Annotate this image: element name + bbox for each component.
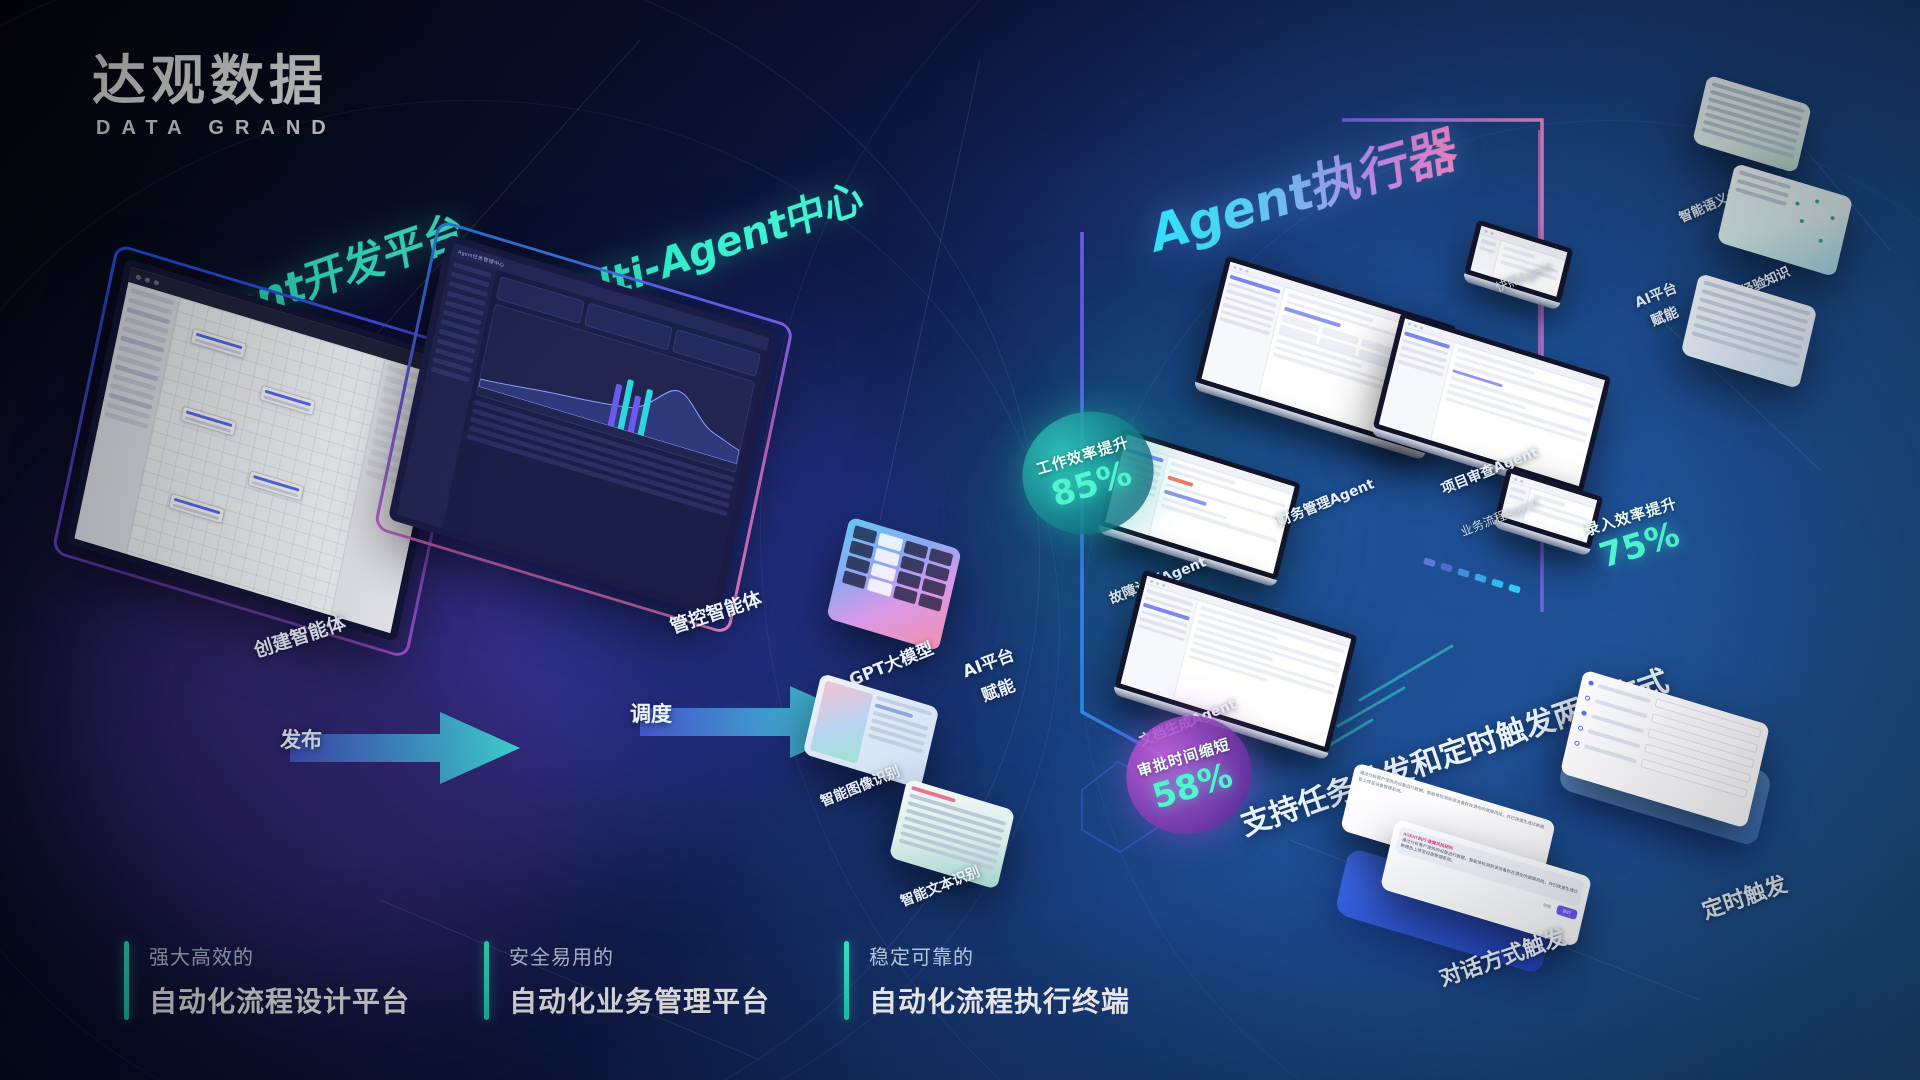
radio-icon[interactable] <box>1588 680 1594 686</box>
screen-multi-agent-center[interactable]: Agent任务管理中心 <box>388 234 778 618</box>
caption-subtitle: 安全易用的 <box>509 941 770 970</box>
card-gpt-model[interactable] <box>826 516 962 651</box>
radio-icon[interactable] <box>1581 710 1587 716</box>
arrow-label-dispatch: 调度 <box>630 698 672 728</box>
card-semantic-analysis[interactable] <box>1692 75 1812 174</box>
flow-node[interactable] <box>247 470 304 501</box>
caption-item-design-platform: 强大高效的 自动化流程设计平台 <box>124 941 484 1020</box>
caption-subtitle: 稳定可靠的 <box>869 941 1130 970</box>
flow-node[interactable] <box>180 405 237 436</box>
caption-item-business-platform: 安全易用的 自动化业务管理平台 <box>484 941 844 1020</box>
caption-title: 自动化流程执行终端 <box>869 980 1130 1020</box>
chat-primary-button[interactable]: 执行 <box>1556 904 1578 919</box>
bottom-captions: 强大高效的 自动化流程设计平台 安全易用的 自动化业务管理平台 稳定可靠的 自动… <box>124 941 1204 1020</box>
section-title-agent-executor: Agent执行器 <box>1146 108 1460 268</box>
infographic-canvas: 达观数据 DATA GRAND Agent开发平台 Multi-Agent中心 … <box>0 0 1920 1080</box>
arrow-publish <box>290 700 540 810</box>
screen-bezel: Agent任务管理中心 <box>388 234 778 618</box>
arrow-label-publish: 发布 <box>280 724 322 754</box>
radio-icon[interactable] <box>1585 695 1591 701</box>
knowledge-graph-icon <box>1779 187 1846 270</box>
multi-agent-ui: Agent任务管理中心 <box>396 243 769 610</box>
caption-accent-bar <box>844 941 849 1020</box>
ai-platform-enable-label-right: AI平台 赋能 <box>1632 277 1689 333</box>
trigger-mode-label-schedule: 定时触发 <box>1697 867 1791 926</box>
flow-node[interactable] <box>190 328 247 359</box>
card-expert-knowledge[interactable] <box>1717 163 1853 277</box>
caption-title: 自动化业务管理平台 <box>509 980 770 1020</box>
executor-pagination[interactable] <box>1423 557 1521 593</box>
card-label-gpt-model: GPT大模型 <box>845 634 937 691</box>
radio-icon[interactable] <box>1577 725 1583 731</box>
chat-secondary-button[interactable]: 忽略 <box>1542 902 1551 910</box>
flow-node[interactable] <box>259 385 316 416</box>
caption-item-execution-terminal: 稳定可靠的 自动化流程执行终端 <box>844 941 1204 1020</box>
caption-accent-bar <box>484 941 489 1020</box>
brand-name-en: DATA GRAND <box>96 117 337 140</box>
caption-accent-bar <box>124 941 129 1020</box>
brand-logo: 达观数据 DATA GRAND <box>92 52 337 140</box>
card-knowledge-base[interactable] <box>1681 273 1818 389</box>
laptop-snapshot-agent[interactable] <box>1462 219 1573 310</box>
ai-platform-enable-label-center: AI平台 赋能 <box>958 640 1027 709</box>
brand-name-cn: 达观数据 <box>92 52 337 109</box>
radio-icon[interactable] <box>1574 740 1580 746</box>
caption-subtitle: 强大高效的 <box>149 941 410 970</box>
flow-node[interactable] <box>168 493 225 524</box>
caption-title: 自动化流程设计平台 <box>149 980 410 1020</box>
